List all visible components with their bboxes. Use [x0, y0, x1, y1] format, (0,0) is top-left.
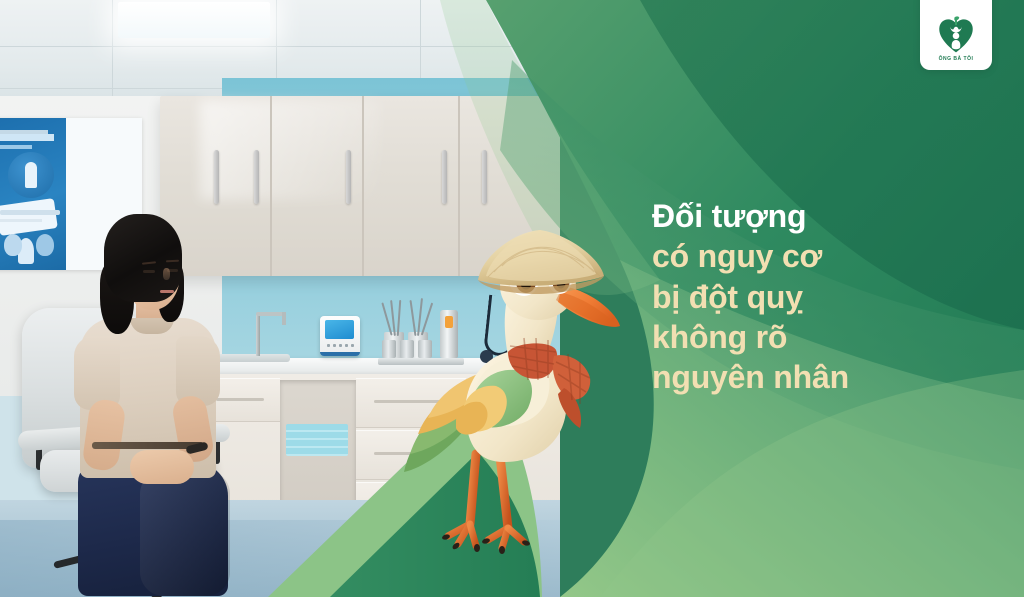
headline-line-4: không rõ [652, 317, 982, 357]
monitor-screen [325, 320, 354, 339]
apple-heart-family-icon [936, 16, 976, 54]
headline: Đối tượng có nguy cơ bị đột quỵ không rõ… [652, 196, 982, 398]
headline-line-3: bị đột quỵ [652, 277, 982, 317]
logo-brand-text: ÔNG BÀ TÔI [939, 56, 974, 62]
sink-basin [216, 354, 290, 362]
banner-root: Đối tượng có nguy cơ bị đột quỵ không rõ… [0, 0, 1024, 597]
logo-badge[interactable]: ÔNG BÀ TÔI [920, 0, 992, 70]
ceiling-light-panel [118, 2, 270, 38]
folded-towels [286, 424, 348, 456]
patient-hands [130, 450, 194, 484]
headline-line-2: có nguy cơ [652, 236, 982, 276]
conical-hat [478, 230, 604, 294]
headline-line-1: Đối tượng [652, 196, 982, 236]
faucet [256, 314, 260, 356]
stork-mascot [404, 228, 624, 558]
mascot-legs [441, 454, 530, 554]
patient-hair [104, 214, 182, 302]
headline-line-5: nguyên nhân [652, 357, 982, 397]
